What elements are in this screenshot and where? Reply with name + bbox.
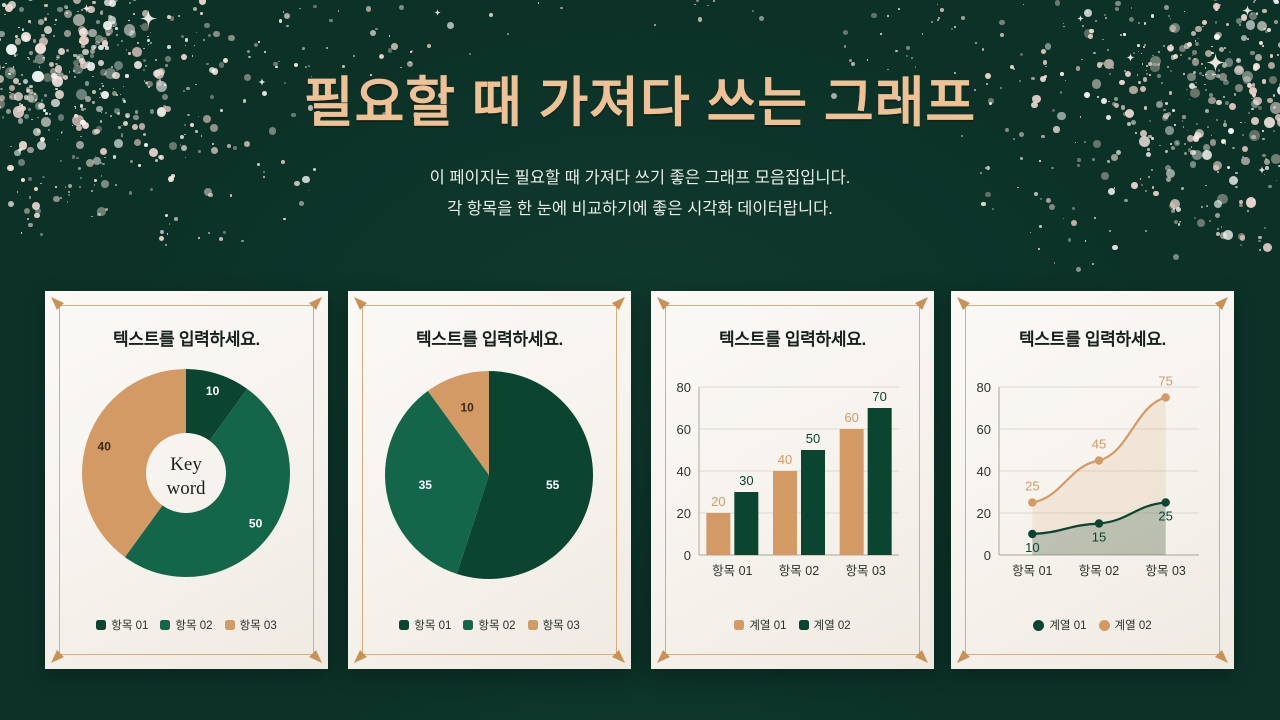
x-axis-tick-label: 항목 02 xyxy=(1079,564,1119,578)
sparkle-dot xyxy=(160,230,164,234)
legend-swatch xyxy=(1099,620,1110,631)
sparkle-dot xyxy=(208,232,210,234)
point-value-label: 45 xyxy=(1092,437,1106,452)
y-axis-tick-label: 40 xyxy=(977,464,991,479)
y-axis-tick-label: 20 xyxy=(977,506,991,521)
y-axis-tick-label: 60 xyxy=(677,422,691,437)
donut-center-label: word xyxy=(166,478,206,499)
legend-label: 항목 02 xyxy=(478,617,515,633)
sparkle-dot xyxy=(1038,248,1040,250)
sparkle-dot xyxy=(1263,243,1272,252)
legend-swatch xyxy=(734,620,744,630)
corner-dart-icon xyxy=(606,644,626,664)
y-axis-tick-label: 20 xyxy=(677,506,691,521)
legend-swatch xyxy=(1033,620,1044,631)
sparkle-dot xyxy=(1264,227,1266,229)
sparkle-dot xyxy=(1221,226,1223,228)
y-axis-tick-label: 40 xyxy=(677,464,691,479)
legend-swatch xyxy=(463,620,473,630)
legend-label: 항목 01 xyxy=(111,617,148,633)
legend-item[interactable]: 항목 03 xyxy=(528,617,580,633)
bar[interactable] xyxy=(801,450,825,555)
corner-dart-icon xyxy=(50,296,70,316)
point-value-label: 15 xyxy=(1092,530,1106,545)
data-point-marker[interactable] xyxy=(1028,530,1036,538)
chart-legend: 항목 01 항목 02 항목 03 xyxy=(348,617,631,633)
donut-slice-value: 10 xyxy=(206,384,220,398)
data-point-marker[interactable] xyxy=(1095,519,1103,527)
chart-legend: 계열 01 계열 02 xyxy=(951,617,1234,633)
sparkle-dot xyxy=(1173,254,1179,260)
y-axis-tick-label: 80 xyxy=(977,380,991,395)
sparkle-dot xyxy=(1109,230,1111,232)
chart-card-pie[interactable]: 텍스트를 입력하세요. 553510 항목 01 항목 02 항목 03 xyxy=(348,291,631,669)
legend-item[interactable]: 계열 02 xyxy=(799,617,851,633)
chart-legend: 항목 01 항목 02 항목 03 xyxy=(45,617,328,633)
legend-item[interactable]: 계열 01 xyxy=(734,617,786,633)
legend-swatch xyxy=(799,620,809,630)
legend-swatch xyxy=(399,620,409,630)
sparkle-dot xyxy=(1240,235,1246,241)
bar-value-label: 70 xyxy=(872,389,886,404)
bar[interactable] xyxy=(773,471,797,555)
sparkle-dot xyxy=(1258,236,1262,240)
sparkle-dot xyxy=(241,240,244,243)
donut-slice-value: 50 xyxy=(249,517,263,531)
bar-value-label: 50 xyxy=(806,431,820,446)
page-title: 필요할 때 가져다 쓰는 그래프 xyxy=(0,58,1280,137)
legend-swatch xyxy=(160,620,170,630)
legend-item[interactable]: 항목 02 xyxy=(463,617,515,633)
corner-dart-icon xyxy=(1209,644,1229,664)
subtitle-line-2: 각 항목을 한 눈에 비교하기에 좋은 시각화 데이터랍니다. xyxy=(0,194,1280,225)
area-chart-plot: 020406080항목 01항목 02항목 03254575101525 xyxy=(951,355,1234,613)
page-subtitle: 이 페이지는 필요할 때 가져다 쓰기 좋은 그래프 모음집입니다. 각 항목을… xyxy=(0,163,1280,224)
sparkle-dot xyxy=(1220,232,1228,240)
sparkle-dot xyxy=(159,236,164,241)
legend-item[interactable]: 항목 01 xyxy=(399,617,451,633)
y-axis-tick-label: 0 xyxy=(984,548,991,563)
legend-item[interactable]: 항목 02 xyxy=(160,617,212,633)
bar-value-label: 60 xyxy=(844,410,858,425)
sparkle-dot xyxy=(167,233,169,235)
bar[interactable] xyxy=(868,408,892,555)
point-value-label: 25 xyxy=(1158,509,1172,524)
y-axis-tick-label: 80 xyxy=(677,380,691,395)
corner-dart-icon xyxy=(956,644,976,664)
chart-legend: 계열 01 계열 02 xyxy=(651,617,934,633)
bar[interactable] xyxy=(840,429,864,555)
y-axis-tick-label: 60 xyxy=(977,422,991,437)
x-axis-tick-label: 항목 01 xyxy=(1012,564,1052,578)
sparkle-dot xyxy=(1223,230,1233,240)
card-title: 텍스트를 입력하세요. xyxy=(348,325,631,350)
corner-dart-icon xyxy=(606,296,626,316)
sparkle-dot xyxy=(40,233,43,236)
slide-header: 필요할 때 가져다 쓰는 그래프 이 페이지는 필요할 때 가져다 쓰기 좋은 … xyxy=(0,0,1280,224)
chart-card-bar[interactable]: 텍스트를 입력하세요. 020406080항목 01항목 02항목 032030… xyxy=(651,291,934,669)
data-point-marker[interactable] xyxy=(1028,498,1036,506)
sparkle-dot xyxy=(1076,267,1081,272)
legend-item[interactable]: 계열 01 xyxy=(1033,617,1086,633)
sparkle-dot xyxy=(1030,232,1032,234)
corner-dart-icon xyxy=(956,296,976,316)
card-title: 텍스트를 입력하세요. xyxy=(651,325,934,350)
bar-chart-plot: 020406080항목 01항목 02항목 03203040506070 xyxy=(651,355,934,613)
point-value-label: 75 xyxy=(1158,374,1172,389)
corner-dart-icon xyxy=(353,296,373,316)
donut-slice-value: 40 xyxy=(98,439,112,453)
legend-swatch xyxy=(528,620,538,630)
sparkle-dot xyxy=(1216,232,1220,236)
y-axis-tick-label: 0 xyxy=(684,548,691,563)
sparkle-dot xyxy=(1145,230,1147,232)
point-value-label: 10 xyxy=(1025,540,1039,555)
legend-swatch xyxy=(96,620,106,630)
legend-label: 항목 03 xyxy=(240,617,277,633)
legend-item[interactable]: 항목 01 xyxy=(96,617,148,633)
x-axis-tick-label: 항목 01 xyxy=(712,564,752,578)
pie-slice-value: 35 xyxy=(419,478,433,492)
bar[interactable] xyxy=(734,492,758,555)
corner-dart-icon xyxy=(303,644,323,664)
sparkle-dot xyxy=(1238,233,1245,240)
legend-label: 항목 03 xyxy=(543,617,580,633)
x-axis-tick-label: 항목 02 xyxy=(779,564,819,578)
donut-center-label: Key xyxy=(170,454,202,475)
bar-value-label: 20 xyxy=(711,494,725,509)
corner-dart-icon xyxy=(353,644,373,664)
chart-card-donut[interactable]: 텍스트를 입력하세요. 105040Keyword 항목 01 항목 02 항목… xyxy=(45,291,328,669)
sparkle-dot xyxy=(1039,225,1042,228)
x-axis-tick-label: 항목 03 xyxy=(1145,564,1185,578)
sparkle-dot xyxy=(1258,240,1260,242)
corner-dart-icon xyxy=(1209,296,1229,316)
corner-dart-icon xyxy=(909,644,929,664)
card-title: 텍스트를 입력하세요. xyxy=(45,325,328,350)
legend-swatch xyxy=(225,620,235,630)
sparkle-dot xyxy=(219,237,223,241)
sparkle-dot xyxy=(165,244,167,246)
pie-chart-plot: 553510 xyxy=(348,355,631,613)
data-point-marker[interactable] xyxy=(1161,498,1169,506)
bar-value-label: 30 xyxy=(739,473,753,488)
corner-dart-icon xyxy=(656,296,676,316)
card-title: 텍스트를 입력하세요. xyxy=(951,325,1234,350)
point-value-label: 25 xyxy=(1025,479,1039,494)
sparkle-dot xyxy=(1259,249,1261,251)
sparkle-dot xyxy=(1085,240,1087,242)
legend-label: 항목 02 xyxy=(175,617,212,633)
chart-card-area[interactable]: 텍스트를 입력하세요. 020406080항목 01항목 02항목 032545… xyxy=(951,291,1234,669)
data-point-marker[interactable] xyxy=(1161,393,1169,401)
corner-dart-icon xyxy=(656,644,676,664)
sparkle-dot xyxy=(1054,262,1056,264)
legend-label: 항목 01 xyxy=(414,617,451,633)
legend-item[interactable]: 항목 03 xyxy=(225,617,277,633)
sparkle-dot xyxy=(21,232,23,234)
corner-dart-icon xyxy=(50,644,70,664)
corner-dart-icon xyxy=(303,296,323,316)
bar-value-label: 40 xyxy=(778,452,792,467)
pie-slice-value: 55 xyxy=(546,478,560,492)
sparkle-dot xyxy=(198,237,200,239)
legend-label: 계열 02 xyxy=(814,617,851,633)
sparkle-dot xyxy=(1092,263,1094,265)
donut-chart-plot: 105040Keyword xyxy=(45,355,328,613)
slide-canvas: 필요할 때 가져다 쓰는 그래프 이 페이지는 필요할 때 가져다 쓰기 좋은 … xyxy=(0,0,1280,720)
legend-label: 계열 01 xyxy=(749,617,786,633)
x-axis-tick-label: 항목 03 xyxy=(845,564,885,578)
legend-label: 계열 02 xyxy=(1115,617,1152,633)
data-point-marker[interactable] xyxy=(1095,456,1103,464)
legend-item[interactable]: 계열 02 xyxy=(1099,617,1152,633)
legend-label: 계열 01 xyxy=(1049,617,1086,633)
bar[interactable] xyxy=(706,513,730,555)
sparkle-dot xyxy=(1217,228,1219,230)
sparkle-dot xyxy=(1112,245,1117,250)
corner-dart-icon xyxy=(909,296,929,316)
sparkle-dot xyxy=(223,231,226,234)
subtitle-line-1: 이 페이지는 필요할 때 가져다 쓰기 좋은 그래프 모음집입니다. xyxy=(0,163,1280,194)
sparkle-dot xyxy=(1240,244,1242,246)
pie-slice-value: 10 xyxy=(460,401,474,415)
chart-card-list: 텍스트를 입력하세요. 105040Keyword 항목 01 항목 02 항목… xyxy=(0,291,1280,669)
sparkle-dot xyxy=(1068,238,1071,241)
